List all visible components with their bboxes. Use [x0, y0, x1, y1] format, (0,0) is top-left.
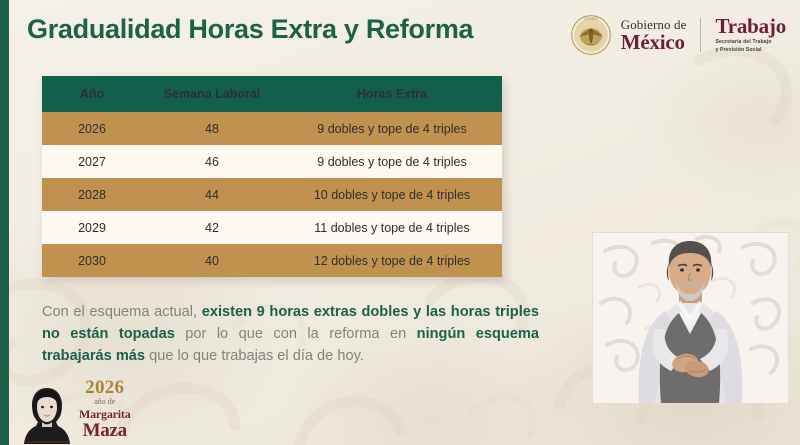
gobierno-line1: Gobierno de: [621, 18, 687, 31]
table-row: 2029 42 11 dobles y tope de 4 triples: [42, 211, 502, 244]
cell-horas: 9 dobles y tope de 4 triples: [282, 122, 502, 136]
left-accent-rail: [0, 0, 9, 445]
column-header-anio: Año: [42, 87, 142, 101]
column-header-horas-extra: Horas Extra: [282, 87, 502, 101]
dependency-name: Trabajo: [715, 16, 786, 37]
gobierno-de-mexico-wordmark: Gobierno de México: [621, 18, 687, 53]
table-row: 2030 40 12 dobles y tope de 4 triples: [42, 244, 502, 277]
brand-divider: [700, 18, 701, 52]
cell-semana: 46: [142, 155, 282, 169]
cell-semana: 40: [142, 254, 282, 268]
cell-horas: 12 dobles y tope de 4 triples: [282, 254, 502, 268]
cell-anio: 2030: [42, 254, 142, 268]
paragraph-part2: por lo que con la reforma en: [175, 326, 417, 342]
cell-horas: 10 dobles y tope de 4 triples: [282, 188, 502, 202]
gradualidad-table: Año Semana Laboral Horas Extra 2026 48 9…: [42, 76, 502, 277]
dependency-subtitle: Secretaría del Trabajo y Previsión Socia…: [715, 39, 786, 53]
table-row: 2028 44 10 dobles y tope de 4 triples: [42, 178, 502, 211]
maza-year: 2026: [85, 378, 124, 397]
presentation-slide: Gradualidad Horas Extra y Reforma ESTADO…: [0, 0, 800, 445]
table-row: 2027 46 9 dobles y tope de 4 triples: [42, 145, 502, 178]
cell-horas: 9 dobles y tope de 4 triples: [282, 155, 502, 169]
table-header-row: Año Semana Laboral Horas Extra: [42, 76, 502, 112]
cell-horas: 11 dobles y tope de 4 triples: [282, 221, 502, 235]
dependency-subtitle-line1: Secretaría del Trabajo: [715, 39, 786, 46]
interpreter-person: [593, 233, 788, 403]
summary-paragraph: Con el esquema actual, existen 9 horas e…: [42, 301, 539, 368]
paragraph-part1: Con el esquema actual,: [42, 304, 202, 320]
dependency-subtitle-line2: y Previsión Social: [715, 47, 786, 54]
cell-anio: 2026: [42, 122, 142, 136]
margarita-maza-portrait-icon: [22, 382, 72, 444]
page-title: Gradualidad Horas Extra y Reforma: [27, 14, 473, 45]
cell-anio: 2029: [42, 221, 142, 235]
sign-language-interpreter-video[interactable]: [592, 232, 789, 404]
maza-ano-de: año de: [94, 398, 115, 406]
cell-anio: 2028: [42, 188, 142, 202]
cell-semana: 42: [142, 221, 282, 235]
maza-last-name: Maza: [83, 421, 127, 440]
margarita-maza-wordmark: 2026 año de Margarita Maza: [79, 378, 131, 444]
gobierno-line2: México: [621, 32, 687, 53]
cell-semana: 44: [142, 188, 282, 202]
government-brand-bar: ESTADOS Gobierno de México Trabajo Secre…: [570, 12, 786, 58]
cell-semana: 48: [142, 122, 282, 136]
paragraph-part3: que lo que trabajas el día de hoy.: [145, 348, 364, 364]
margarita-maza-logo: 2026 año de Margarita Maza: [22, 378, 131, 444]
column-header-semana-laboral: Semana Laboral: [142, 87, 282, 101]
svg-text:ESTADOS: ESTADOS: [584, 16, 597, 20]
cell-anio: 2027: [42, 155, 142, 169]
table-row: 2026 48 9 dobles y tope de 4 triples: [42, 112, 502, 145]
maza-first-name: Margarita: [79, 408, 131, 420]
trabajo-wordmark: Trabajo Secretaría del Trabajo y Previsi…: [715, 16, 786, 53]
mexican-eagle-emblem-icon: ESTADOS: [570, 14, 612, 56]
